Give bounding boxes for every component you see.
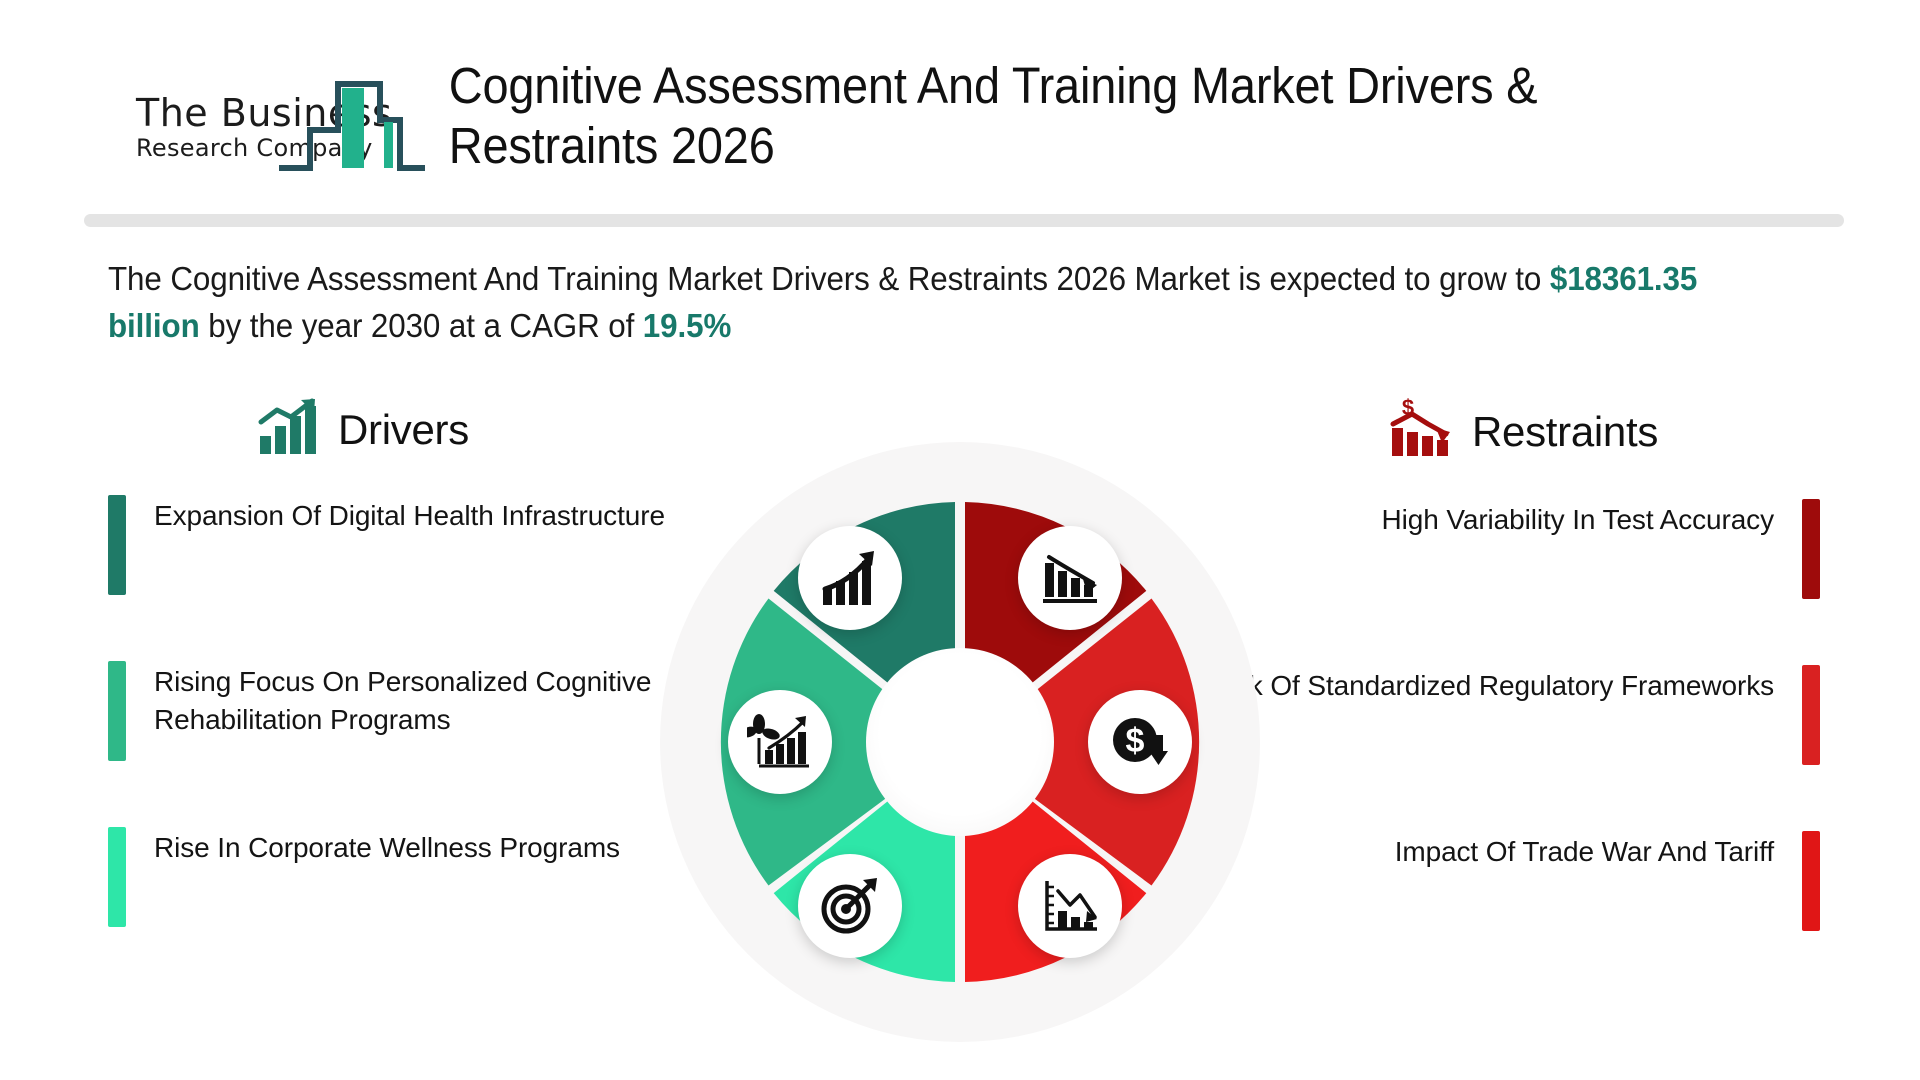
wheel-center-hole (866, 648, 1054, 836)
restraint-accent-bar (1802, 499, 1820, 599)
wheel-badge-restraint-middle: $ (1088, 690, 1192, 794)
wheel-badge-driver-top (798, 526, 902, 630)
bar-chart-down-arrow-icon (1039, 549, 1101, 607)
plant-growth-bar-chart-icon (747, 712, 813, 772)
drivers-restraints-wheel: $ (660, 442, 1260, 1042)
svg-text:$: $ (1126, 722, 1145, 760)
driver-label: Rise In Corporate Wellness Programs (154, 827, 620, 927)
driver-accent-bar (108, 661, 126, 761)
list-item: Lack Of Standardized Regulatory Framewor… (1180, 665, 1820, 765)
cagr-value: 19.5% (643, 307, 731, 344)
drivers-title: Drivers (338, 406, 469, 454)
target-dart-icon (820, 877, 880, 935)
driver-accent-bar (108, 495, 126, 595)
restraints-column: $ Restraints High Variability In Test Ac… (1180, 398, 1820, 997)
list-item: Rise In Corporate Wellness Programs (108, 827, 728, 927)
driver-label: Rising Focus On Personalized Cognitive R… (154, 661, 728, 761)
bar-chart-outline-logo-icon (276, 64, 426, 181)
chart-growth-arrow-up-icon (819, 549, 881, 607)
restraint-label: Impact Of Trade War And Tariff (1180, 831, 1774, 931)
restraint-label: High Variability In Test Accuracy (1180, 499, 1774, 599)
list-item: Rising Focus On Personalized Cognitive R… (108, 661, 728, 761)
wheel-badge-driver-middle (728, 690, 832, 794)
restraints-title: Restraints (1472, 408, 1658, 456)
header-divider (84, 214, 1844, 227)
wheel-badge-restraint-top (1018, 526, 1122, 630)
driver-label: Expansion Of Digital Health Infrastructu… (154, 495, 665, 595)
dollar-decline-arrow-icon: $ (1109, 713, 1171, 771)
page-header: The Business Research Company Cognitive … (0, 0, 1920, 190)
list-item: Impact Of Trade War And Tariff (1180, 831, 1820, 931)
bar-chart-up-arrow-icon (258, 398, 320, 461)
wheel-badge-driver-bottom (798, 854, 902, 958)
summary-middle: by the year 2030 at a CAGR of (200, 307, 643, 344)
drivers-column: Drivers Expansion Of Digital Health Infr… (108, 398, 728, 993)
driver-accent-bar (108, 827, 126, 927)
restraints-heading: $ Restraints (1180, 398, 1820, 465)
restraint-accent-bar (1802, 665, 1820, 765)
page-title: Cognitive Assessment And Training Market… (423, 56, 1674, 175)
svg-text:$: $ (1402, 398, 1414, 420)
dollar-bar-chart-down-arrow-icon: $ (1388, 398, 1454, 465)
list-item: High Variability In Test Accuracy (1180, 499, 1820, 599)
restraint-label: Lack Of Standardized Regulatory Framewor… (1180, 665, 1774, 765)
line-chart-decline-icon (1039, 877, 1101, 935)
restraints-list: High Variability In Test Accuracy Lack O… (1180, 499, 1820, 931)
wheel-badge-restraint-bottom (1018, 854, 1122, 958)
market-summary: The Cognitive Assessment And Training Ma… (108, 256, 1761, 350)
summary-lead: The Cognitive Assessment And Training Ma… (108, 260, 1550, 297)
company-logo: The Business Research Company (118, 56, 423, 176)
restraint-accent-bar (1802, 831, 1820, 931)
drivers-heading: Drivers (108, 398, 728, 461)
drivers-list: Expansion Of Digital Health Infrastructu… (108, 495, 728, 927)
list-item: Expansion Of Digital Health Infrastructu… (108, 495, 728, 595)
